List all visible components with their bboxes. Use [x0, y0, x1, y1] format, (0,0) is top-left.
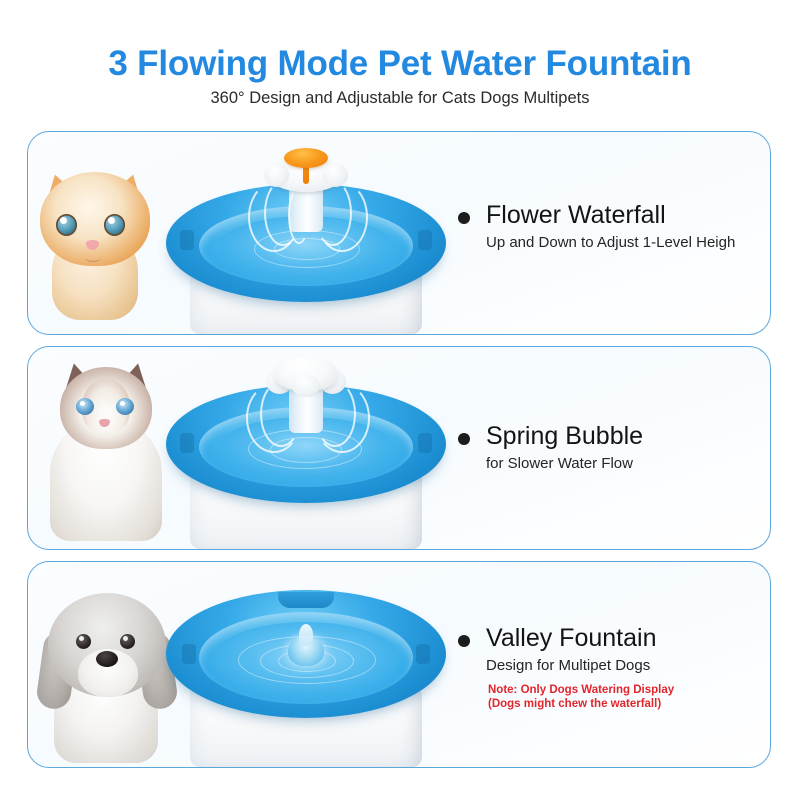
ginger-kitten-illustration	[36, 168, 154, 320]
kitten-eye-left	[56, 214, 77, 236]
bowl-valley-notch	[278, 592, 334, 608]
page-subtitle: 360° Design and Adjustable for Cats Dogs…	[0, 88, 800, 108]
center-water-spout	[299, 624, 313, 646]
feature-subtitle: Design for Multipet Dogs	[486, 656, 650, 675]
product-fountain-valley	[156, 562, 456, 767]
header: 3 Flowing Mode Pet Water Fountain 360° D…	[0, 0, 800, 122]
dog-eye-right	[120, 634, 135, 649]
flower-cap-with-orange-top	[268, 148, 344, 194]
bullet-icon	[458, 433, 470, 445]
bowl-vent-left	[182, 644, 196, 664]
bowl-vent-right	[418, 433, 432, 453]
flower-cap-orange-top	[284, 148, 328, 168]
ragdoll-cat-illustration	[42, 355, 168, 541]
product-fountain-spring-bubble	[156, 347, 456, 549]
feature-subtitle: for Slower Water Flow	[486, 454, 633, 473]
bullet-icon	[458, 635, 470, 647]
feature-panel-spring-bubble[interactable]: Spring Bubble for Slower Water Flow	[27, 346, 771, 550]
product-fountain-flower-waterfall	[156, 132, 456, 334]
feature-text-column: Spring Bubble for Slower Water Flow	[444, 347, 764, 549]
feature-note-line-2: (Dogs might chew the waterfall)	[488, 697, 661, 711]
bowl-vent-right	[416, 644, 430, 664]
feature-panel-flower-waterfall[interactable]: Flower Waterfall Up and Down to Adjust 1…	[27, 131, 771, 335]
feature-title: Flower Waterfall	[486, 200, 666, 230]
bowl-vent-right	[418, 230, 432, 250]
feature-note-line-1: Note: Only Dogs Watering Display	[488, 683, 674, 697]
feature-text-column: Valley Fountain Design for Multipet Dogs…	[444, 562, 764, 767]
feature-panel-valley-fountain[interactable]: Valley Fountain Design for Multipet Dogs…	[27, 561, 771, 768]
cat-eye-right	[116, 398, 134, 415]
dog-nose	[96, 651, 118, 667]
feature-subtitle: Up and Down to Adjust 1-Level Heigh	[486, 233, 735, 252]
bullet-icon	[458, 212, 470, 224]
feature-title: Spring Bubble	[486, 421, 643, 451]
kitten-mouth	[84, 251, 102, 262]
bowl-vent-left	[180, 433, 194, 453]
dog-eye-left	[76, 634, 91, 649]
poodle-dog-illustration	[40, 591, 172, 763]
feature-text-column: Flower Waterfall Up and Down to Adjust 1…	[444, 132, 764, 334]
page-title: 3 Flowing Mode Pet Water Fountain	[0, 44, 800, 84]
feature-title: Valley Fountain	[486, 623, 656, 653]
kitten-eye-right	[104, 214, 125, 236]
water-stream	[288, 186, 310, 244]
flower-cap-lobe-center	[292, 375, 320, 397]
white-flower-cap	[266, 357, 346, 401]
bowl-vent-left	[180, 230, 194, 250]
cat-eye-left	[76, 398, 94, 415]
